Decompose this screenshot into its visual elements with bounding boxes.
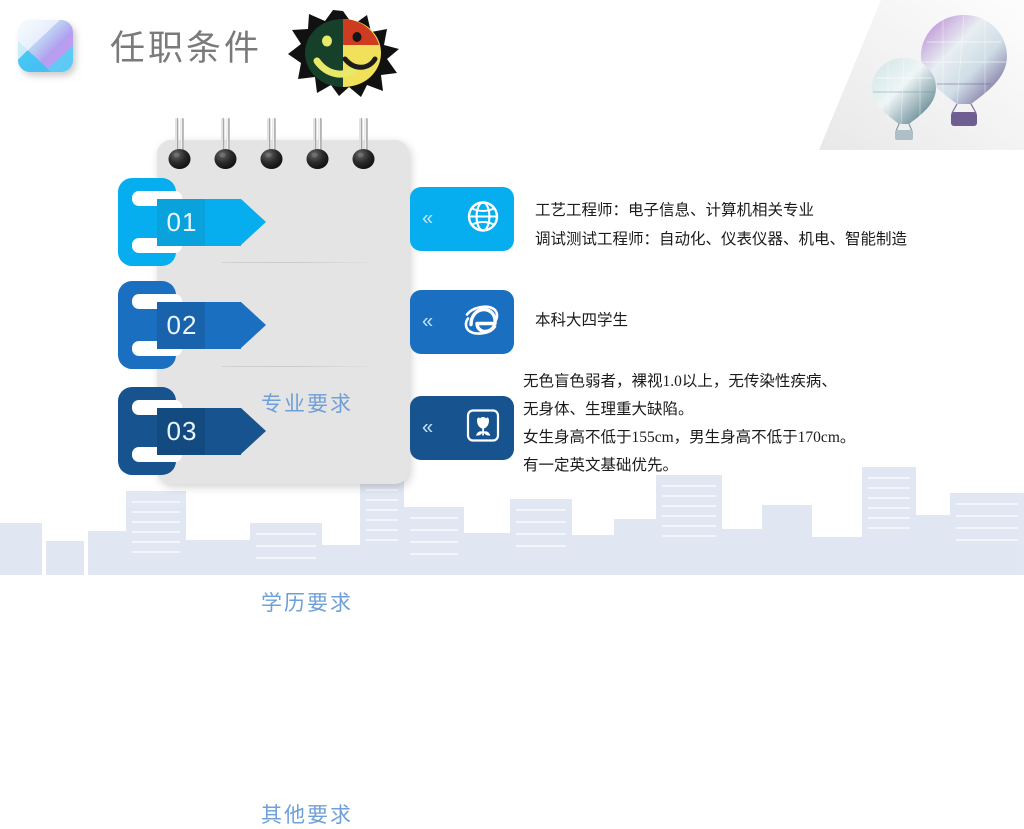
page-title: 任职条件 [110, 20, 262, 71]
tulip-photo-icon [466, 409, 500, 448]
internet-explorer-icon [462, 303, 500, 342]
requirement-line: 本科大四学生 [535, 306, 628, 335]
number-arrow-1: 01 [157, 199, 266, 246]
requirement-text-3: 无色盲色弱者，裸视1.0以上，无传染性疾病、 无身体、生理重大缺陷。 女生身高不… [523, 368, 855, 480]
hot-air-balloons-decoration [809, 0, 1024, 150]
requirement-line: 无身体、生理重大缺陷。 [523, 396, 855, 424]
double-chevron-left-icon-1: « [422, 208, 433, 231]
row-label-1: 专业要求 [261, 388, 411, 418]
row-number-3: 03 [157, 408, 207, 455]
arrow-tip-3 [241, 408, 266, 454]
requirement-line: 有一定英文基础优先。 [523, 452, 855, 480]
number-arrow-3: 03 [157, 408, 266, 455]
icon-pill-2[interactable]: « [410, 290, 514, 354]
row-number-1: 01 [157, 199, 207, 246]
double-chevron-left-icon-3: « [422, 417, 433, 440]
number-arrow-2: 02 [157, 302, 266, 349]
arrow-tip-2 [241, 302, 266, 348]
notepad-divider-2 [222, 366, 370, 367]
starburst-smiley-face-icon [287, 9, 399, 97]
arrow-tip-1 [241, 199, 266, 245]
notepad-divider-1 [222, 262, 370, 263]
requirement-line: 调试测试工程师：自动化、仪表仪器、机电、智能制造 [535, 225, 907, 254]
requirement-text-1: 工艺工程师：电子信息、计算机相关专业 调试测试工程师：自动化、仪表仪器、机电、智… [535, 196, 907, 254]
row-number-2: 02 [157, 302, 207, 349]
icon-pill-3[interactable]: « [410, 396, 514, 460]
double-chevron-left-icon-2: « [422, 311, 433, 334]
row-label-2: 学历要求 [261, 587, 411, 617]
row-label-3: 其他要求 [261, 799, 411, 829]
requirement-text-2: 本科大四学生 [535, 306, 628, 335]
spiral-binding-rings [157, 110, 409, 182]
icon-pill-1[interactable]: « [410, 187, 514, 251]
globe-icon [466, 200, 500, 239]
requirement-line: 无色盲色弱者，裸视1.0以上，无传染性疾病、 [523, 368, 855, 396]
gradient-app-icon [18, 20, 73, 72]
requirement-line: 女生身高不低于155cm，男生身高不低于170cm。 [523, 424, 855, 452]
requirement-line: 工艺工程师：电子信息、计算机相关专业 [535, 196, 907, 225]
